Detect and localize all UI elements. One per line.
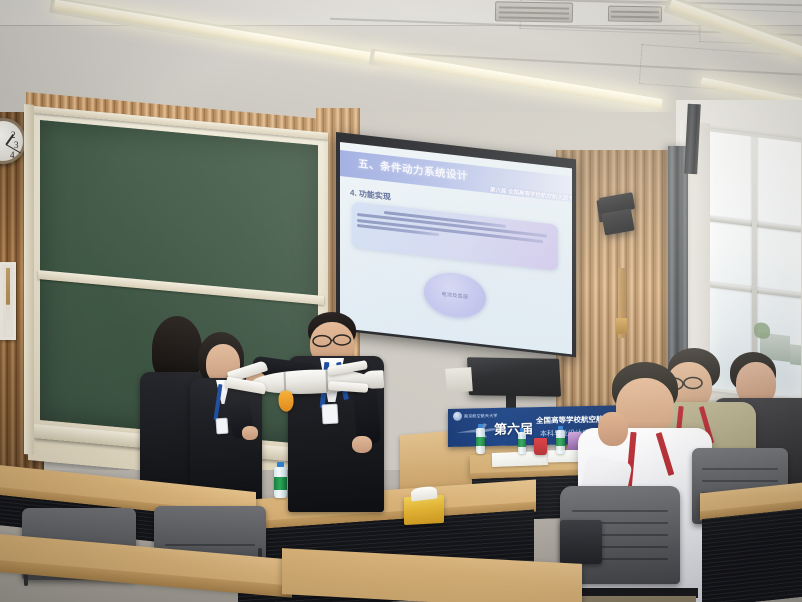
backpack <box>560 520 602 564</box>
water-bottle[interactable] <box>274 462 287 498</box>
podium-panel <box>445 367 473 393</box>
university-logo: 南京航空航天大学 <box>453 411 498 421</box>
tissue-box[interactable] <box>404 495 444 525</box>
judge-1-hand <box>598 412 628 446</box>
water-bottle[interactable] <box>556 426 565 454</box>
judge-1-trousers <box>578 596 696 602</box>
right-desk-front-panel <box>702 509 802 602</box>
tissue-paper <box>411 485 438 501</box>
classroom-presentation-screenshot: 2 3 4 五、条件动力系统设计 第六届 全国高等学校航空航天类专业 本科毕业设… <box>0 0 802 602</box>
eyeglasses-icon <box>312 334 354 348</box>
presenter-3-hand-right <box>352 436 372 453</box>
presenter-2 <box>196 332 262 502</box>
presenter-2-hand <box>242 426 258 440</box>
chalkboard-left-edge <box>24 104 34 455</box>
air-conditioner-vent <box>495 1 573 22</box>
aircraft-fuselage-model[interactable] <box>223 359 385 411</box>
paper-cup[interactable] <box>534 438 547 455</box>
slide-body-box <box>352 201 558 270</box>
banner-ordinal: 第六届 <box>494 418 533 438</box>
slide-ellipse-label: 电池及底座 <box>441 290 468 300</box>
door-handle <box>616 318 627 334</box>
clock-numeral: 4 <box>10 150 15 160</box>
air-conditioner-vent <box>608 6 662 23</box>
water-bottle[interactable] <box>476 424 485 454</box>
slide-diagram-ellipse: 电池及底座 <box>424 270 486 321</box>
presenter-monitor[interactable] <box>467 357 561 397</box>
presenter-3 <box>300 312 380 504</box>
university-logo-text: 南京航空航天大学 <box>464 412 498 419</box>
university-seal-icon <box>453 412 462 421</box>
presenter-2-badge <box>215 418 228 435</box>
slide-subtitle: 4. 功能实现 <box>350 187 391 203</box>
water-bottle[interactable] <box>518 428 526 454</box>
wall-poster <box>0 262 16 340</box>
